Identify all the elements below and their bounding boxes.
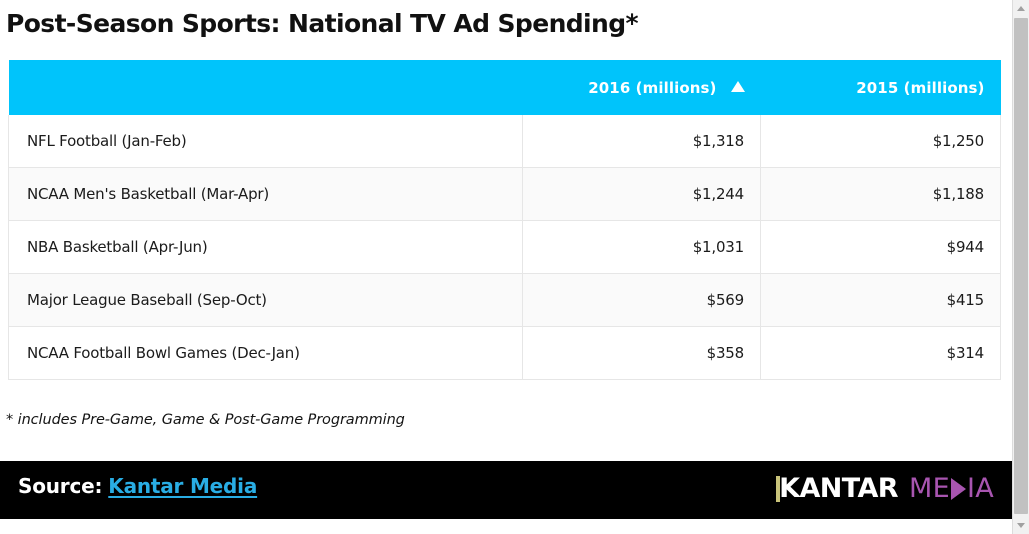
table-row[interactable]: NFL Football (Jan-Feb) $1,318 $1,250 xyxy=(9,115,1001,168)
cell-2016: $1,244 xyxy=(523,168,761,221)
cell-2015: $415 xyxy=(761,274,1001,327)
footnote: * includes Pre-Game, Game & Post-Game Pr… xyxy=(6,412,405,428)
logo-media-post: IA xyxy=(967,473,994,505)
column-header-category[interactable] xyxy=(9,60,523,115)
cell-category: NFL Football (Jan-Feb) xyxy=(9,115,523,168)
logo-word-media: MEIA xyxy=(909,473,994,505)
logo-media-pre: ME xyxy=(909,473,950,505)
table-row[interactable]: Major League Baseball (Sep-Oct) $569 $41… xyxy=(9,274,1001,327)
ad-spending-table: 2016 (millions) 2015 (millions) NFL Foot… xyxy=(8,60,1001,380)
kantar-media-logo: KANTAR MEIA xyxy=(776,473,994,505)
column-header-2016-label: 2016 (millions) xyxy=(588,79,716,97)
footer-bar: Source:Kantar Media KANTAR MEIA xyxy=(0,461,1012,519)
chevron-down-icon xyxy=(1017,523,1025,528)
page-title: Post-Season Sports: National TV Ad Spend… xyxy=(0,0,1012,44)
scroll-up-button[interactable] xyxy=(1013,0,1029,17)
data-table-container: 2016 (millions) 2015 (millions) NFL Foot… xyxy=(8,60,1000,380)
cell-2015: $944 xyxy=(761,221,1001,274)
scrollbar-thumb[interactable] xyxy=(1014,18,1028,514)
cell-category: NCAA Men's Basketball (Mar-Apr) xyxy=(9,168,523,221)
table-row[interactable]: NCAA Football Bowl Games (Dec-Jan) $358 … xyxy=(9,327,1001,380)
scroll-down-button[interactable] xyxy=(1013,517,1029,534)
table-row[interactable]: NBA Basketball (Apr-Jun) $1,031 $944 xyxy=(9,221,1001,274)
table-header-row: 2016 (millions) 2015 (millions) xyxy=(9,60,1001,115)
source-line: Source:Kantar Media xyxy=(18,474,257,498)
triangle-right-icon xyxy=(951,478,966,500)
cell-2016: $569 xyxy=(523,274,761,327)
report-page: Post-Season Sports: National TV Ad Spend… xyxy=(0,0,1012,534)
logo-word-kantar: KANTAR xyxy=(779,473,898,505)
cell-2015: $1,250 xyxy=(761,115,1001,168)
cell-2016: $1,318 xyxy=(523,115,761,168)
source-label: Source: xyxy=(18,474,102,498)
cell-2016: $358 xyxy=(523,327,761,380)
cell-2015: $314 xyxy=(761,327,1001,380)
triangle-up-icon[interactable] xyxy=(731,81,745,92)
table-body: NFL Football (Jan-Feb) $1,318 $1,250 NCA… xyxy=(9,115,1001,380)
column-header-2016[interactable]: 2016 (millions) xyxy=(523,60,761,115)
cell-category: Major League Baseball (Sep-Oct) xyxy=(9,274,523,327)
chevron-up-icon xyxy=(1017,6,1025,11)
table-row[interactable]: NCAA Men's Basketball (Mar-Apr) $1,244 $… xyxy=(9,168,1001,221)
source-link[interactable]: Kantar Media xyxy=(108,474,257,498)
table-header: 2016 (millions) 2015 (millions) xyxy=(9,60,1001,115)
cell-category: NBA Basketball (Apr-Jun) xyxy=(9,221,523,274)
vertical-scrollbar[interactable] xyxy=(1012,0,1029,534)
cell-category: NCAA Football Bowl Games (Dec-Jan) xyxy=(9,327,523,380)
cell-2016: $1,031 xyxy=(523,221,761,274)
column-header-2015[interactable]: 2015 (millions) xyxy=(761,60,1001,115)
cell-2015: $1,188 xyxy=(761,168,1001,221)
